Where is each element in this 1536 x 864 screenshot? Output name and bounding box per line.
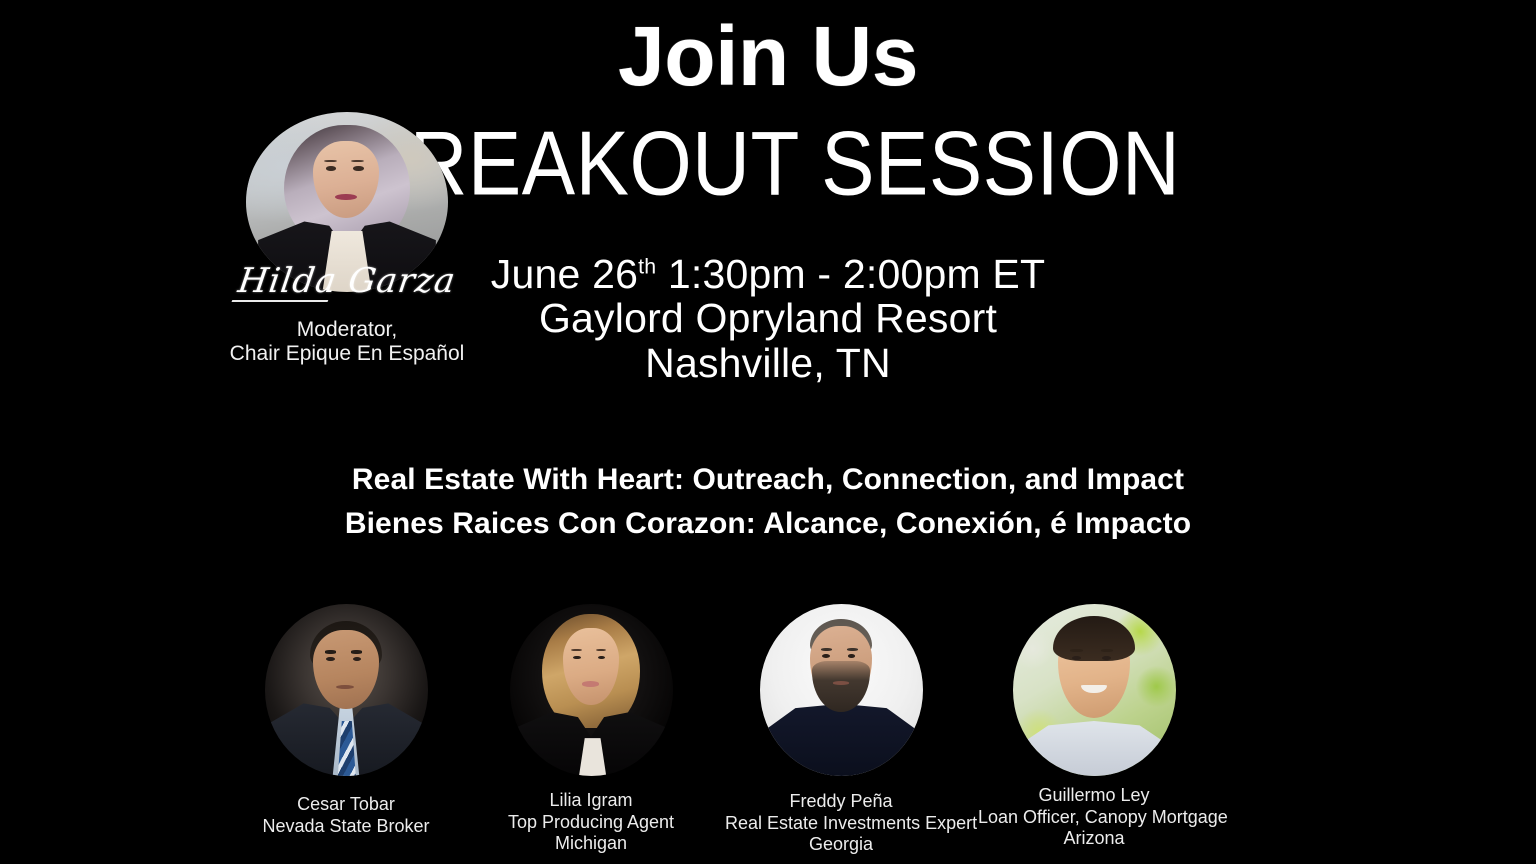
speaker-portrait-guillermo-ley	[1013, 604, 1176, 776]
speaker-card-freddy-pena: Freddy Peña Real Estate Investments Expe…	[725, 604, 957, 856]
portrait-brow-left	[821, 648, 832, 651]
speaker-card-lilia-igram: Lilia Igram Top Producing Agent Michigan	[475, 604, 707, 855]
portrait-eye-right	[1102, 656, 1111, 660]
speaker-caption: Freddy Peña Real Estate Investments Expe…	[725, 791, 957, 856]
session-title: Real Estate With Heart: Outreach, Connec…	[0, 458, 1536, 547]
speaker-location: Arizona	[978, 828, 1210, 850]
speaker-location: Michigan	[475, 833, 707, 855]
speaker-name: Cesar Tobar	[230, 794, 462, 816]
portrait-eye-right	[353, 166, 364, 171]
moderator-signature: Hilda Garza	[200, 264, 495, 298]
session-title-english: Real Estate With Heart: Outreach, Connec…	[0, 458, 1536, 502]
moderator-role-line-2: Chair Epique En Español	[202, 342, 492, 367]
speaker-location: Georgia	[725, 834, 957, 856]
portrait-brow-right	[1101, 649, 1113, 652]
portrait-mouth	[336, 685, 354, 689]
speaker-name: Lilia Igram	[475, 790, 707, 812]
slide-canvas: Join Us BREAKOUT SESSION June 26th 1:30p…	[0, 0, 1536, 864]
date-ordinal-suffix: th	[638, 254, 656, 278]
session-title-spanish: Bienes Raices Con Corazon: Alcance, Cone…	[0, 502, 1536, 546]
speaker-name: Guillermo Ley	[978, 785, 1210, 807]
event-time: 1:30pm - 2:00pm ET	[656, 251, 1045, 297]
speaker-portrait-cesar-tobar	[265, 604, 428, 776]
portrait-eye-left	[326, 166, 337, 171]
speaker-title: Real Estate Investments Expert	[725, 813, 957, 835]
portrait-brow-left	[1070, 649, 1082, 652]
portrait-brow-right	[847, 648, 858, 651]
portrait-eye-left	[573, 656, 580, 660]
portrait-brow-right	[351, 650, 362, 653]
speaker-title: Nevada State Broker	[230, 816, 462, 838]
moderator-role-line-1: Moderator,	[202, 318, 492, 343]
moderator-block: Hilda Garza Moderator, Chair Epique En E…	[202, 112, 492, 367]
portrait-eye-left	[1072, 656, 1081, 660]
speaker-caption: Guillermo Ley Loan Officer, Canopy Mortg…	[978, 785, 1210, 850]
portrait-mouth	[582, 681, 599, 686]
speaker-title: Loan Officer, Canopy Mortgage	[978, 807, 1210, 829]
portrait-eye-right	[848, 654, 856, 658]
speaker-name: Freddy Peña	[725, 791, 957, 813]
portrait-brow-left	[325, 650, 336, 653]
portrait-mouth	[833, 681, 849, 684]
portrait-eye-left	[822, 654, 830, 658]
join-us-heading: Join Us	[0, 14, 1536, 98]
speaker-card-guillermo-ley: Guillermo Ley Loan Officer, Canopy Mortg…	[978, 604, 1210, 850]
moderator-role: Moderator, Chair Epique En Español	[202, 318, 492, 368]
speaker-title: Top Producing Agent	[475, 812, 707, 834]
speaker-card-cesar-tobar: Cesar Tobar Nevada State Broker	[230, 604, 462, 837]
speakers-row: Cesar Tobar Nevada State Broker Lilia Ig…	[240, 604, 1260, 854]
speaker-portrait-lilia-igram	[510, 604, 673, 776]
event-date: June 26	[491, 251, 638, 297]
speaker-caption: Cesar Tobar Nevada State Broker	[230, 794, 462, 837]
speaker-caption: Lilia Igram Top Producing Agent Michigan	[475, 790, 707, 855]
speaker-portrait-freddy-pena	[760, 604, 923, 776]
